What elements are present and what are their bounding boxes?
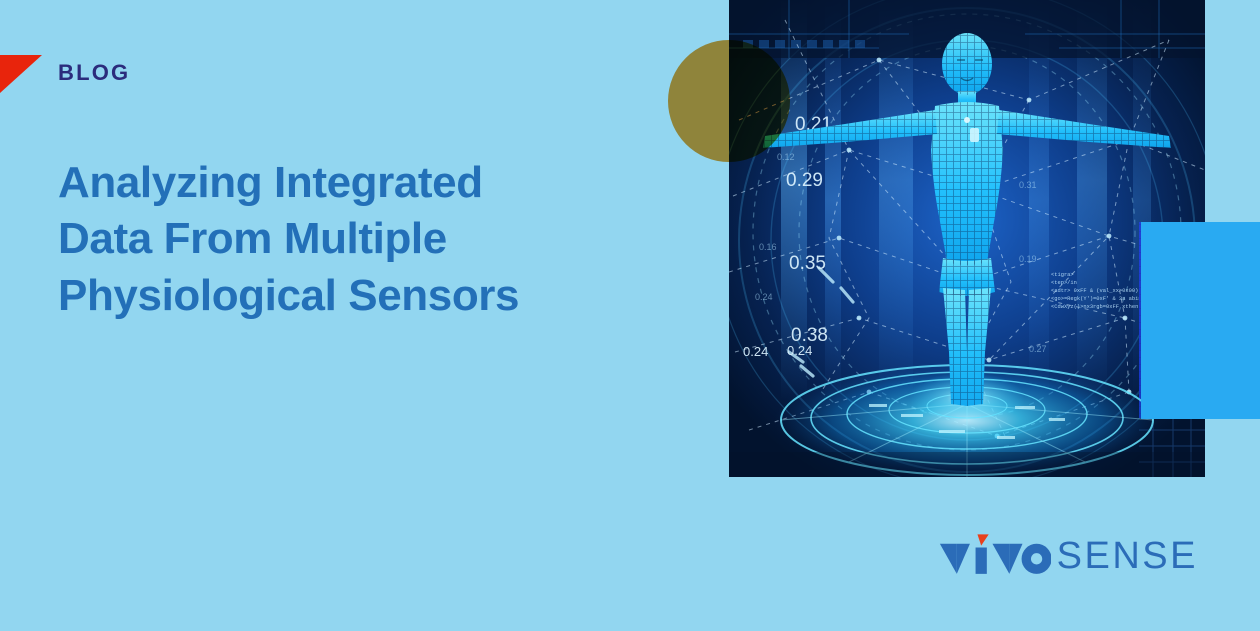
blue-rectangle-decoration bbox=[1141, 222, 1260, 419]
vivosense-logo[interactable]: SENSE bbox=[938, 530, 1198, 582]
page-title-line-1: Analyzing Integrated bbox=[58, 155, 658, 211]
page-title-line-2: Data From Multiple bbox=[58, 211, 658, 267]
page-title-line-3: Physiological Sensors bbox=[58, 268, 658, 324]
hero-small-label: 0.24 bbox=[755, 292, 773, 302]
svg-text:<adtr> 0xFF & (val_xx>0x00): <adtr> 0xFF & (val_xx>0x00) bbox=[1051, 288, 1138, 294]
hero-small-label: 0.12 bbox=[777, 152, 795, 162]
svg-text:<go>=Regk(Y')=0xF' & 3a abinxx: <go>=Regk(Y')=0xF' & 3a abinxxv bbox=[1051, 296, 1152, 302]
hero-small-label: 0.31 bbox=[1019, 180, 1037, 190]
svg-text:<tigra>: <tigra> bbox=[1051, 272, 1074, 278]
red-corner-triangle-decoration bbox=[0, 55, 42, 93]
hero-data-label: 0.24 bbox=[787, 343, 812, 358]
hero-data-label: 0.35 bbox=[789, 253, 826, 274]
hero-small-label: 0.27 bbox=[1029, 344, 1047, 354]
hero-hologram-graphic: 0.21 0.29 0.35 0.38 0.24 0.24 0.12 0.16 … bbox=[729, 0, 1205, 477]
hero-small-label: 0.19 bbox=[1019, 254, 1037, 264]
logo-wordmark-text: SENSE bbox=[1057, 537, 1198, 575]
svg-text:<CdwXyz()>nx3rgb=0xFF xthen r: <CdwXyz()>nx3rgb=0xFF xthen r bbox=[1051, 304, 1145, 310]
category-eyebrow-label: BLOG bbox=[58, 60, 130, 86]
orange-circle-decoration bbox=[668, 40, 790, 162]
hero-small-label: 0.16 bbox=[759, 242, 777, 252]
vivo-logomark-icon bbox=[938, 531, 1051, 581]
hero-image: 0.21 0.29 0.35 0.38 0.24 0.24 0.12 0.16 … bbox=[729, 0, 1205, 477]
hero-data-label: 0.24 bbox=[743, 344, 768, 359]
hero-data-label: 0.29 bbox=[786, 170, 823, 191]
svg-text:<tep>/in: <tep>/in bbox=[1051, 280, 1077, 286]
page-title: Analyzing Integrated Data From Multiple … bbox=[58, 155, 658, 324]
logo-accent-mark bbox=[977, 534, 988, 545]
